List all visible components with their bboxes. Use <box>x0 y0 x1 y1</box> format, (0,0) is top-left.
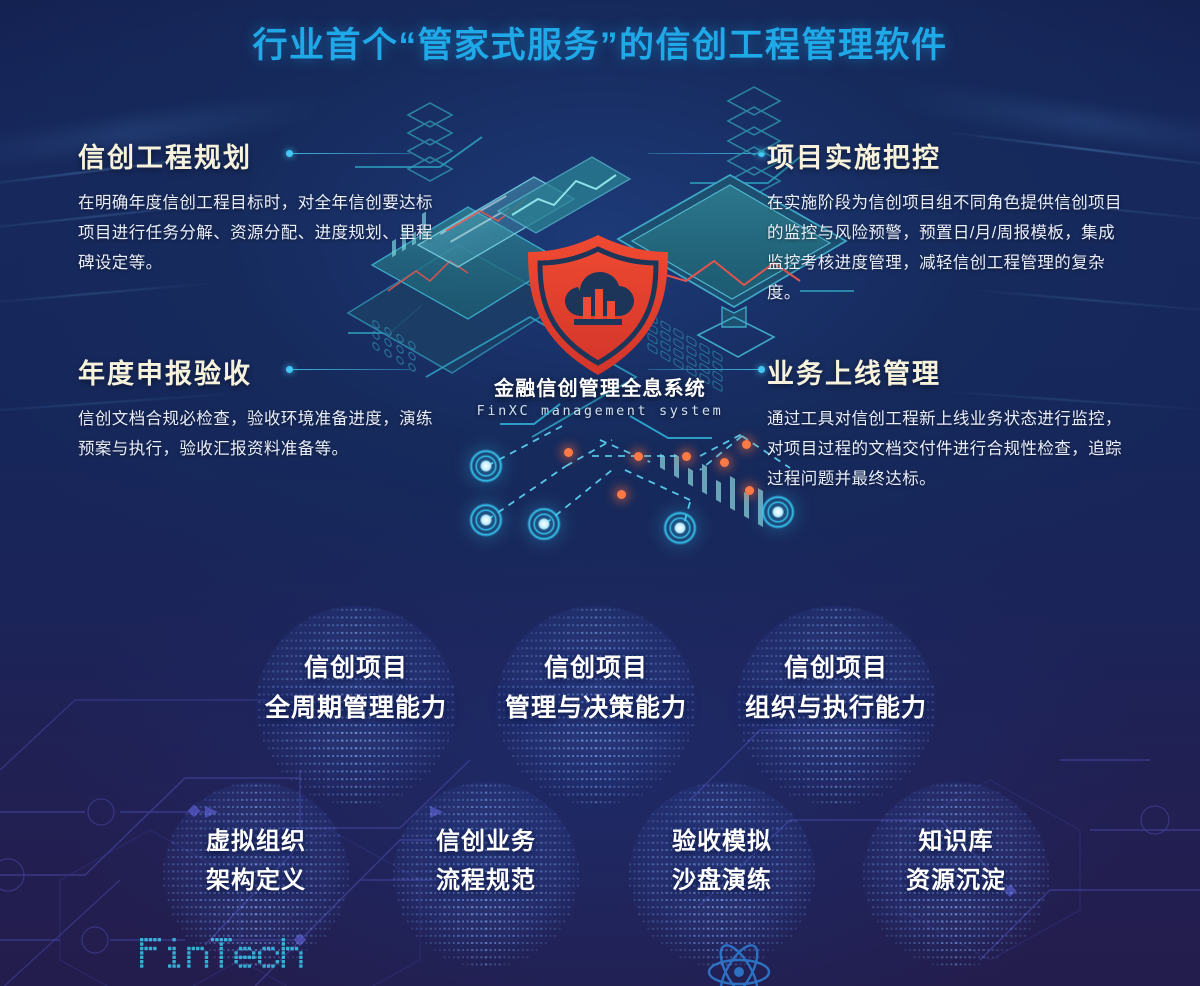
capability-sphere-acceptance-drill: 验收模拟 沙盘演练 <box>614 782 830 900</box>
atom-icon <box>705 938 773 986</box>
network-node <box>758 492 798 532</box>
quadrant-heading: 年度申报验收 <box>78 352 433 391</box>
sphere-label-line1: 信创业务 <box>378 822 594 861</box>
capability-sphere-lifecycle: 信创项目 全周期管理能力 <box>228 606 484 728</box>
network-spark <box>720 458 729 467</box>
network-node <box>466 500 506 540</box>
sphere-label-line1: 信创项目 <box>708 648 964 688</box>
capability-sphere-execution: 信创项目 组织与执行能力 <box>708 606 964 728</box>
quadrant-planning: 信创工程规划 在明确年度信创工程目标时，对全年信创要达标项目进行任务分解、资源分… <box>78 136 433 278</box>
capability-sphere-knowledge-base: 知识库 资源沉淀 <box>848 782 1064 900</box>
sphere-label-line2: 管理与决策能力 <box>468 688 724 728</box>
quadrant-heading: 业务上线管理 <box>767 352 1122 391</box>
sphere-label-line2: 组织与执行能力 <box>708 688 964 728</box>
sphere-label-line2: 资源沉淀 <box>848 861 1064 900</box>
quadrant-body: 在实施阶段为信创项目组不同角色提供信创项目的监控与风险预警，预置日/月/周报模板… <box>767 188 1122 308</box>
capability-sphere-virtual-org: 虚拟组织 架构定义 <box>148 782 364 900</box>
sphere-label-line1: 信创项目 <box>228 648 484 688</box>
sphere-label-line1: 知识库 <box>848 822 1064 861</box>
network-node <box>660 508 700 548</box>
sphere-label-line2: 沙盘演练 <box>614 861 830 900</box>
page-title: 行业首个“管家式服务”的信创工程管理软件 <box>0 17 1200 68</box>
network-spark <box>617 490 626 499</box>
sphere-label-line2: 全周期管理能力 <box>228 688 484 728</box>
quadrant-annual-acceptance: 年度申报验收 信创文档合规必检查，验收环境准备进度，演练预案与执行，验收汇报资料… <box>78 352 433 464</box>
capability-sphere-decision: 信创项目 管理与决策能力 <box>468 606 724 728</box>
sphere-label-line2: 流程规范 <box>378 861 594 900</box>
infographic-canvas: 行业首个“管家式服务”的信创工程管理软件 <box>0 0 1200 986</box>
quadrant-body: 通过工具对信创工程新上线业务状态进行监控，对项目过程的文档交付件进行合规性检查，… <box>767 404 1122 494</box>
network-spark <box>682 452 691 461</box>
sphere-label-line1: 虚拟组织 <box>148 822 364 861</box>
sphere-label-line2: 架构定义 <box>148 861 364 900</box>
quadrant-implementation: 项目实施把控 在实施阶段为信创项目组不同角色提供信创项目的监控与风险预警，预置日… <box>767 136 1122 308</box>
quadrant-body: 信创文档合规必检查，验收环境准备进度，演练预案与执行，验收汇报资料准备等。 <box>78 404 433 464</box>
quadrant-heading: 信创工程规划 <box>78 136 433 175</box>
quadrant-heading: 项目实施把控 <box>767 136 1122 175</box>
quadrant-business-launch: 业务上线管理 通过工具对信创工程新上线业务状态进行监控，对项目过程的文档交付件进… <box>767 352 1122 494</box>
capability-sphere-process-spec: 信创业务 流程规范 <box>378 782 594 900</box>
sphere-label-line1: 信创项目 <box>468 648 724 688</box>
fintech-watermark <box>138 930 338 978</box>
network-node <box>466 446 506 486</box>
sphere-label-line1: 验收模拟 <box>614 822 830 861</box>
quadrant-body: 在明确年度信创工程目标时，对全年信创要达标项目进行任务分解、资源分配、进度规划、… <box>78 188 433 278</box>
network-spark <box>564 448 573 457</box>
network-node <box>524 504 564 544</box>
shield-cloud-chart-icon <box>528 235 668 375</box>
network-spark <box>634 452 643 461</box>
network-spark <box>742 440 751 449</box>
